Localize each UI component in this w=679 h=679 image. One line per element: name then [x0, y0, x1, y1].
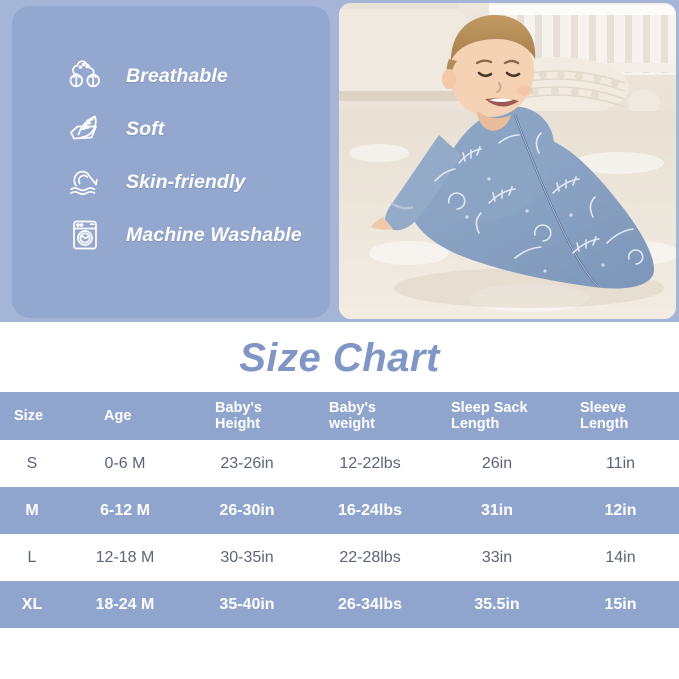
- column-header-sleep-sack-length: Sleep SackLength: [432, 400, 562, 432]
- size-chart-table: Size Age Baby'sHeight Baby'sweight Sleep…: [0, 392, 679, 628]
- skin-friendly-icon: [62, 160, 108, 204]
- cell-size: M: [0, 502, 64, 520]
- table-row: L 12-18 M 30-35in 22-28lbs 33in 14in: [0, 534, 679, 581]
- column-header-baby-height: Baby'sHeight: [186, 400, 308, 432]
- cell-weight: 22-28lbs: [308, 549, 432, 567]
- cell-age: 0-6 M: [64, 455, 186, 473]
- cell-size: S: [0, 455, 64, 473]
- cell-weight: 12-22lbs: [308, 455, 432, 473]
- cell-size: L: [0, 549, 64, 567]
- feature-item-soft: Soft: [62, 103, 332, 155]
- cell-sleeve-length: 15in: [562, 596, 679, 614]
- cell-sleeve-length: 11in: [562, 455, 679, 473]
- feature-label: Breathable: [126, 65, 228, 88]
- table-row: M 6-12 M 26-30in 16-24lbs 31in 12in: [0, 487, 679, 534]
- feature-item-skin-friendly: Skin-friendly: [62, 156, 332, 208]
- cell-height: 30-35in: [186, 549, 308, 567]
- feature-label: Soft: [126, 118, 164, 141]
- column-header-sleeve-length: SleeveLength: [562, 400, 679, 432]
- cell-sack-length: 33in: [432, 549, 562, 567]
- feature-label: Machine Washable: [126, 224, 302, 247]
- table-row: XL 18-24 M 35-40in 26-34lbs 35.5in 15in: [0, 581, 679, 628]
- cell-sack-length: 26in: [432, 455, 562, 473]
- product-photo: [339, 3, 676, 319]
- cell-sack-length: 35.5in: [432, 596, 562, 614]
- infographic-page: Breathable Soft: [0, 0, 679, 679]
- cell-height: 23-26in: [186, 455, 308, 473]
- table-header-row: Size Age Baby'sHeight Baby'sweight Sleep…: [0, 392, 679, 440]
- cell-age: 18-24 M: [64, 596, 186, 614]
- page-title: Size Chart: [0, 331, 679, 385]
- cell-age: 6-12 M: [64, 502, 186, 520]
- photo-illustration: [339, 3, 676, 319]
- cell-height: 26-30in: [186, 502, 308, 520]
- soft-feather-icon: [62, 107, 108, 151]
- column-header-baby-weight: Baby'sweight: [308, 400, 432, 432]
- cell-sack-length: 31in: [432, 502, 562, 520]
- machine-washable-icon: [62, 213, 108, 257]
- cell-sleeve-length: 14in: [562, 549, 679, 567]
- cell-size: XL: [0, 596, 64, 614]
- feature-card: Breathable Soft: [12, 6, 330, 318]
- top-banner: Breathable Soft: [0, 0, 679, 322]
- table-row: S 0-6 M 23-26in 12-22lbs 26in 11in: [0, 440, 679, 487]
- feature-item-breathable: Breathable: [62, 50, 332, 102]
- feature-list: Breathable Soft: [62, 50, 332, 262]
- feature-item-machine-washable: Machine Washable: [62, 209, 332, 261]
- feature-label: Skin-friendly: [126, 171, 245, 194]
- breathable-icon: [62, 54, 108, 98]
- cell-weight: 16-24lbs: [308, 502, 432, 520]
- column-header-age: Age: [64, 408, 186, 424]
- cell-age: 12-18 M: [64, 549, 186, 567]
- cell-weight: 26-34lbs: [308, 596, 432, 614]
- cell-sleeve-length: 12in: [562, 502, 679, 520]
- column-header-size: Size: [0, 408, 64, 424]
- cell-height: 35-40in: [186, 596, 308, 614]
